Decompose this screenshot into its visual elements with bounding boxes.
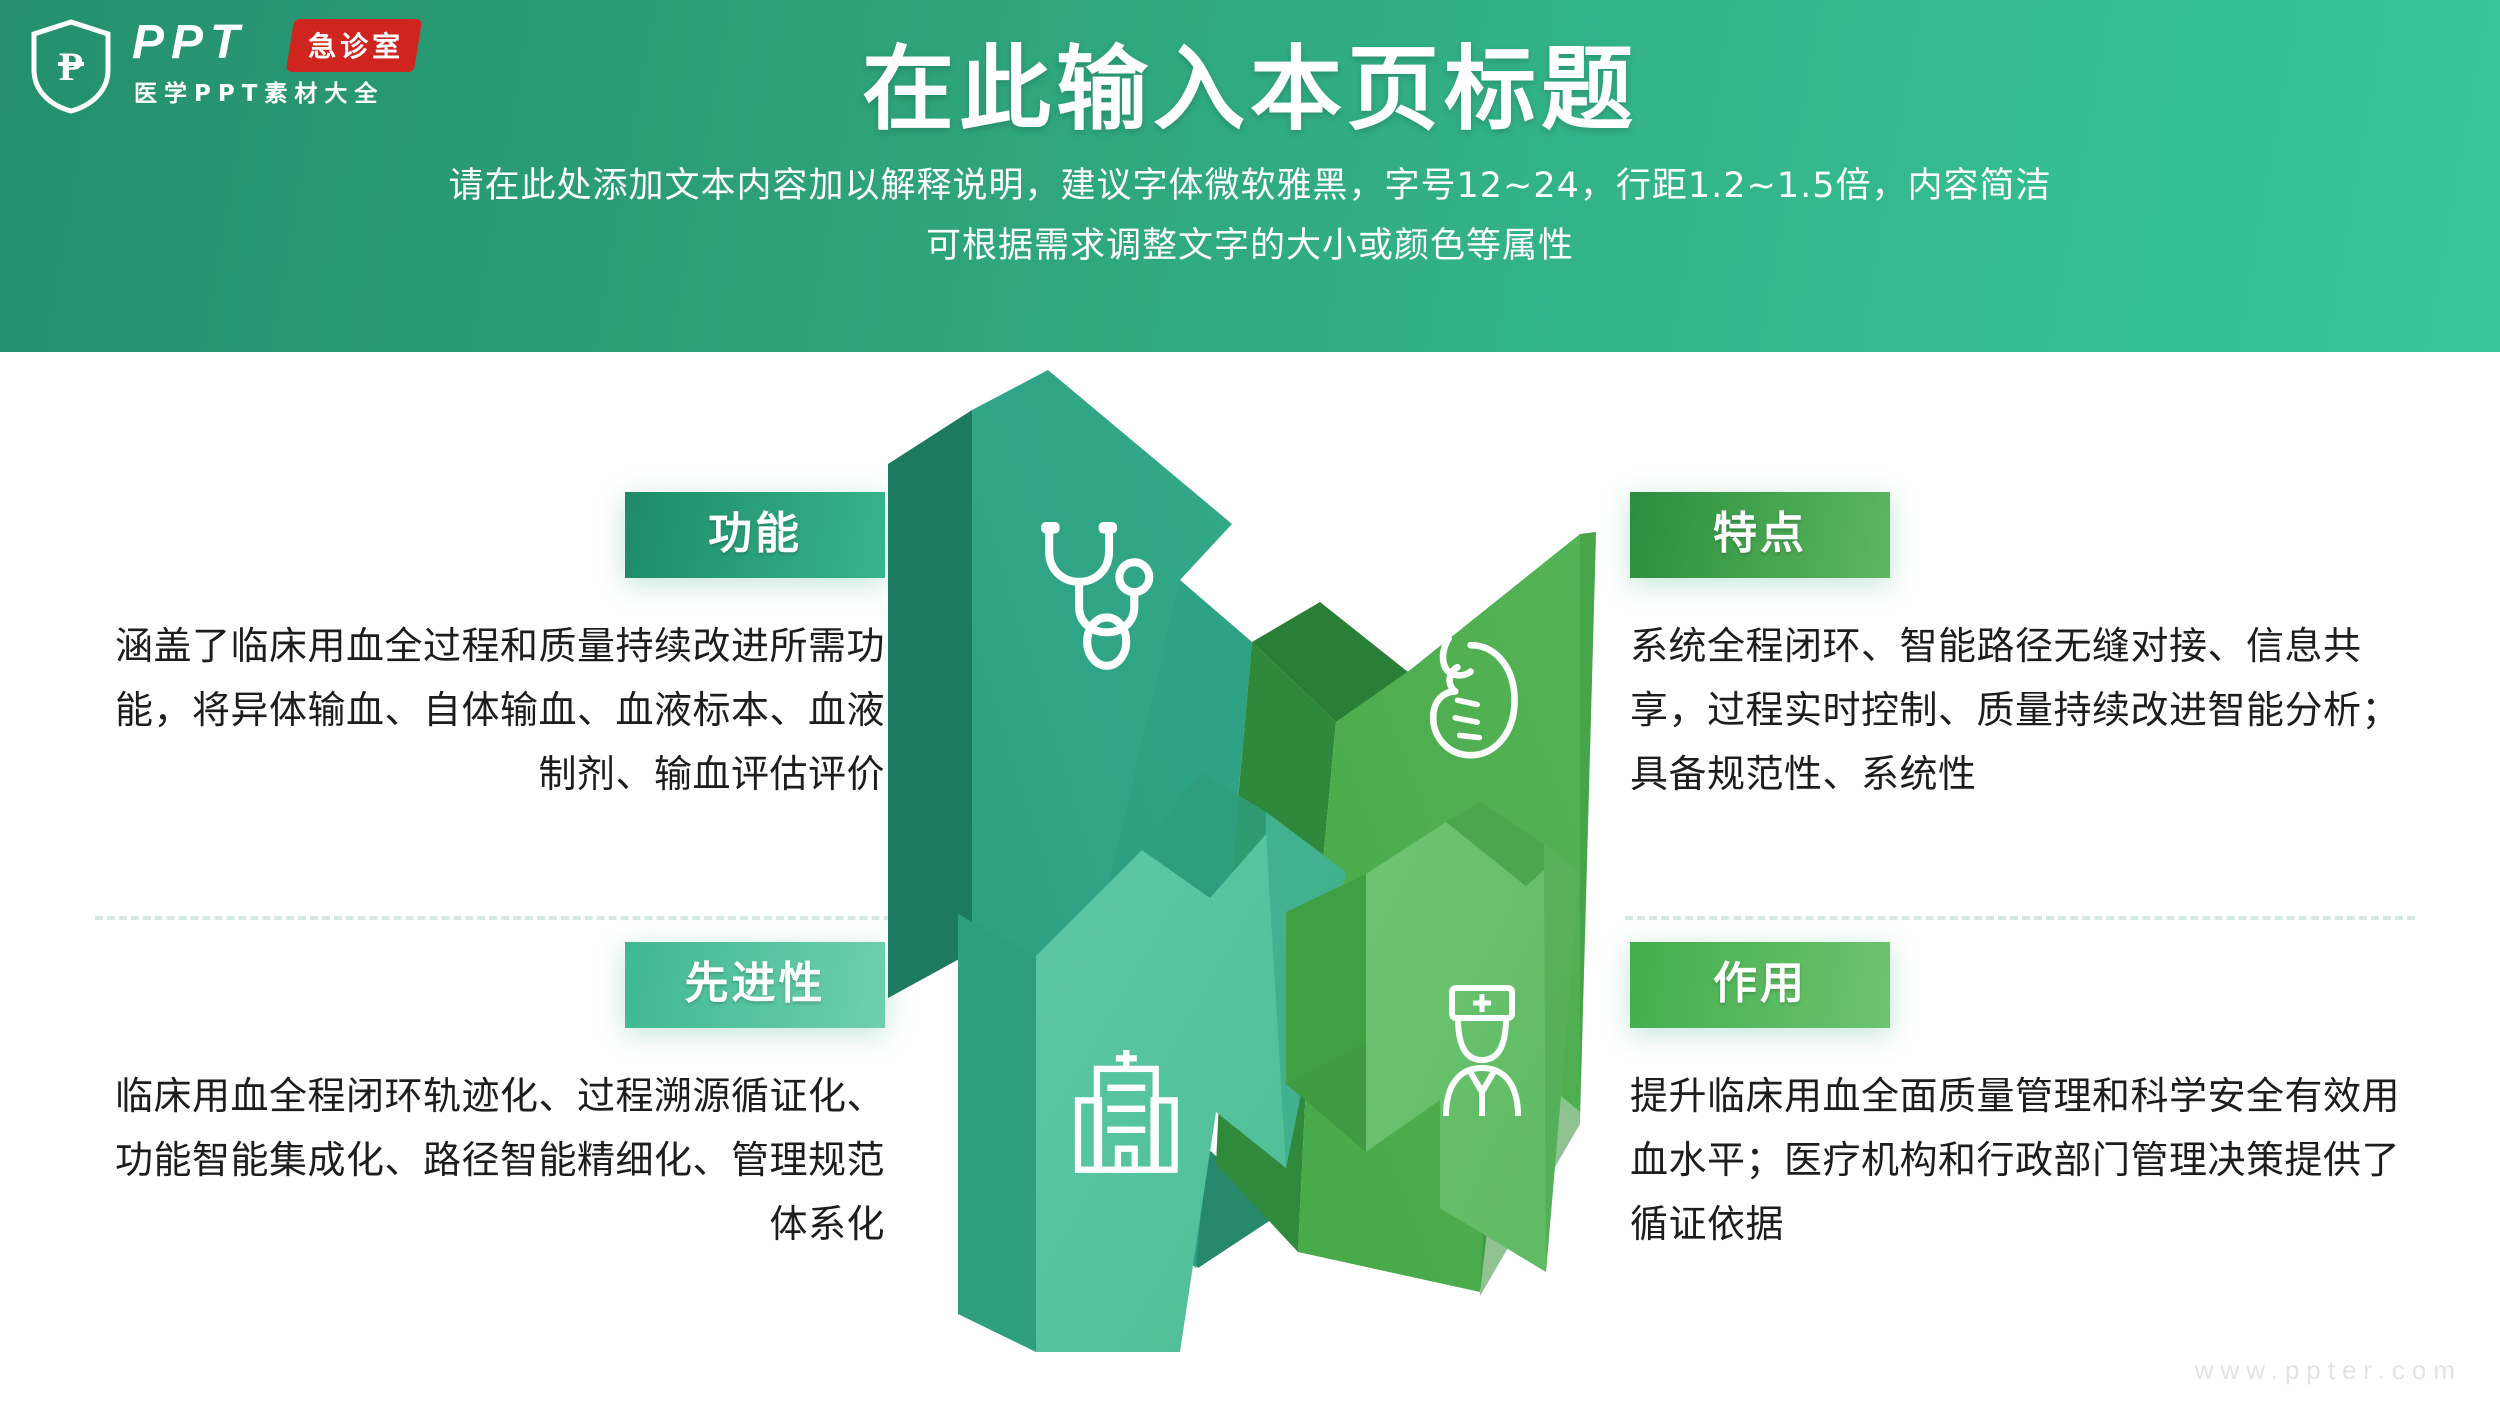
slide-header: P PPT 急诊室 医学PPT素材大全 在此输入本页标题 请在此处添加文本内容加… — [0, 0, 2500, 352]
title-block: 在此输入本页标题 请在此处添加文本内容加以解释说明，建议字体微软雅黑，字号12~… — [0, 38, 2500, 276]
quadrant-role-badge[interactable]: 作用 — [1630, 942, 1890, 1028]
slide-canvas: P PPT 急诊室 医学PPT素材大全 在此输入本页标题 请在此处添加文本内容加… — [0, 0, 2500, 1406]
quadrant-advancement[interactable]: 先进性 临床用血全程闭环轨迹化、过程溯源循证化、功能智能集成化、路径智能精细化、… — [95, 942, 885, 1256]
quadrant-advancement-body: 临床用血全程闭环轨迹化、过程溯源循证化、功能智能集成化、路径智能精细化、管理规范… — [95, 1064, 885, 1256]
site-watermark: www.ppter.com — [2195, 1355, 2462, 1386]
quadrant-function[interactable]: 功能 涵盖了临床用血全过程和质量持续改进所需功能，将异体输血、自体输血、血液标本… — [95, 492, 885, 806]
quadrant-feature-badge[interactable]: 特点 — [1630, 492, 1890, 578]
slide-body: 功能 涵盖了临床用血全过程和质量持续改进所需功能，将异体输血、自体输血、血液标本… — [0, 352, 2500, 1406]
page-subtitle-line-1: 请在此处添加文本内容加以解释说明，建议字体微软雅黑，字号12~24，行距1.2~… — [0, 156, 2500, 216]
quadrant-role-body: 提升临床用血全面质量管理和科学安全有效用血水平；医疗机构和行政部门管理决策提供了… — [1630, 1064, 2420, 1256]
page-subtitle-line-2: 可根据需求调整文字的大小或颜色等属性 — [0, 216, 2500, 276]
quadrant-role[interactable]: 作用 提升临床用血全面质量管理和科学安全有效用血水平；医疗机构和行政部门管理决策… — [1630, 942, 2420, 1256]
divider-left — [95, 916, 975, 920]
four-arrows-crossing-diagram — [880, 352, 1620, 1352]
quadrant-function-body: 涵盖了临床用血全过程和质量持续改进所需功能，将异体输血、自体输血、血液标本、血液… — [95, 614, 885, 806]
quadrant-feature[interactable]: 特点 系统全程闭环、智能路径无缝对接、信息共享，过程实时控制、质量持续改进智能分… — [1630, 492, 2420, 806]
quadrant-advancement-badge[interactable]: 先进性 — [625, 942, 885, 1028]
page-subtitle: 请在此处添加文本内容加以解释说明，建议字体微软雅黑，字号12~24，行距1.2~… — [0, 156, 2500, 276]
quadrant-function-badge[interactable]: 功能 — [625, 492, 885, 578]
page-title: 在此输入本页标题 — [0, 38, 2500, 142]
divider-right — [1625, 916, 2415, 920]
quadrant-feature-body: 系统全程闭环、智能路径无缝对接、信息共享，过程实时控制、质量持续改进智能分析；具… — [1630, 614, 2420, 806]
